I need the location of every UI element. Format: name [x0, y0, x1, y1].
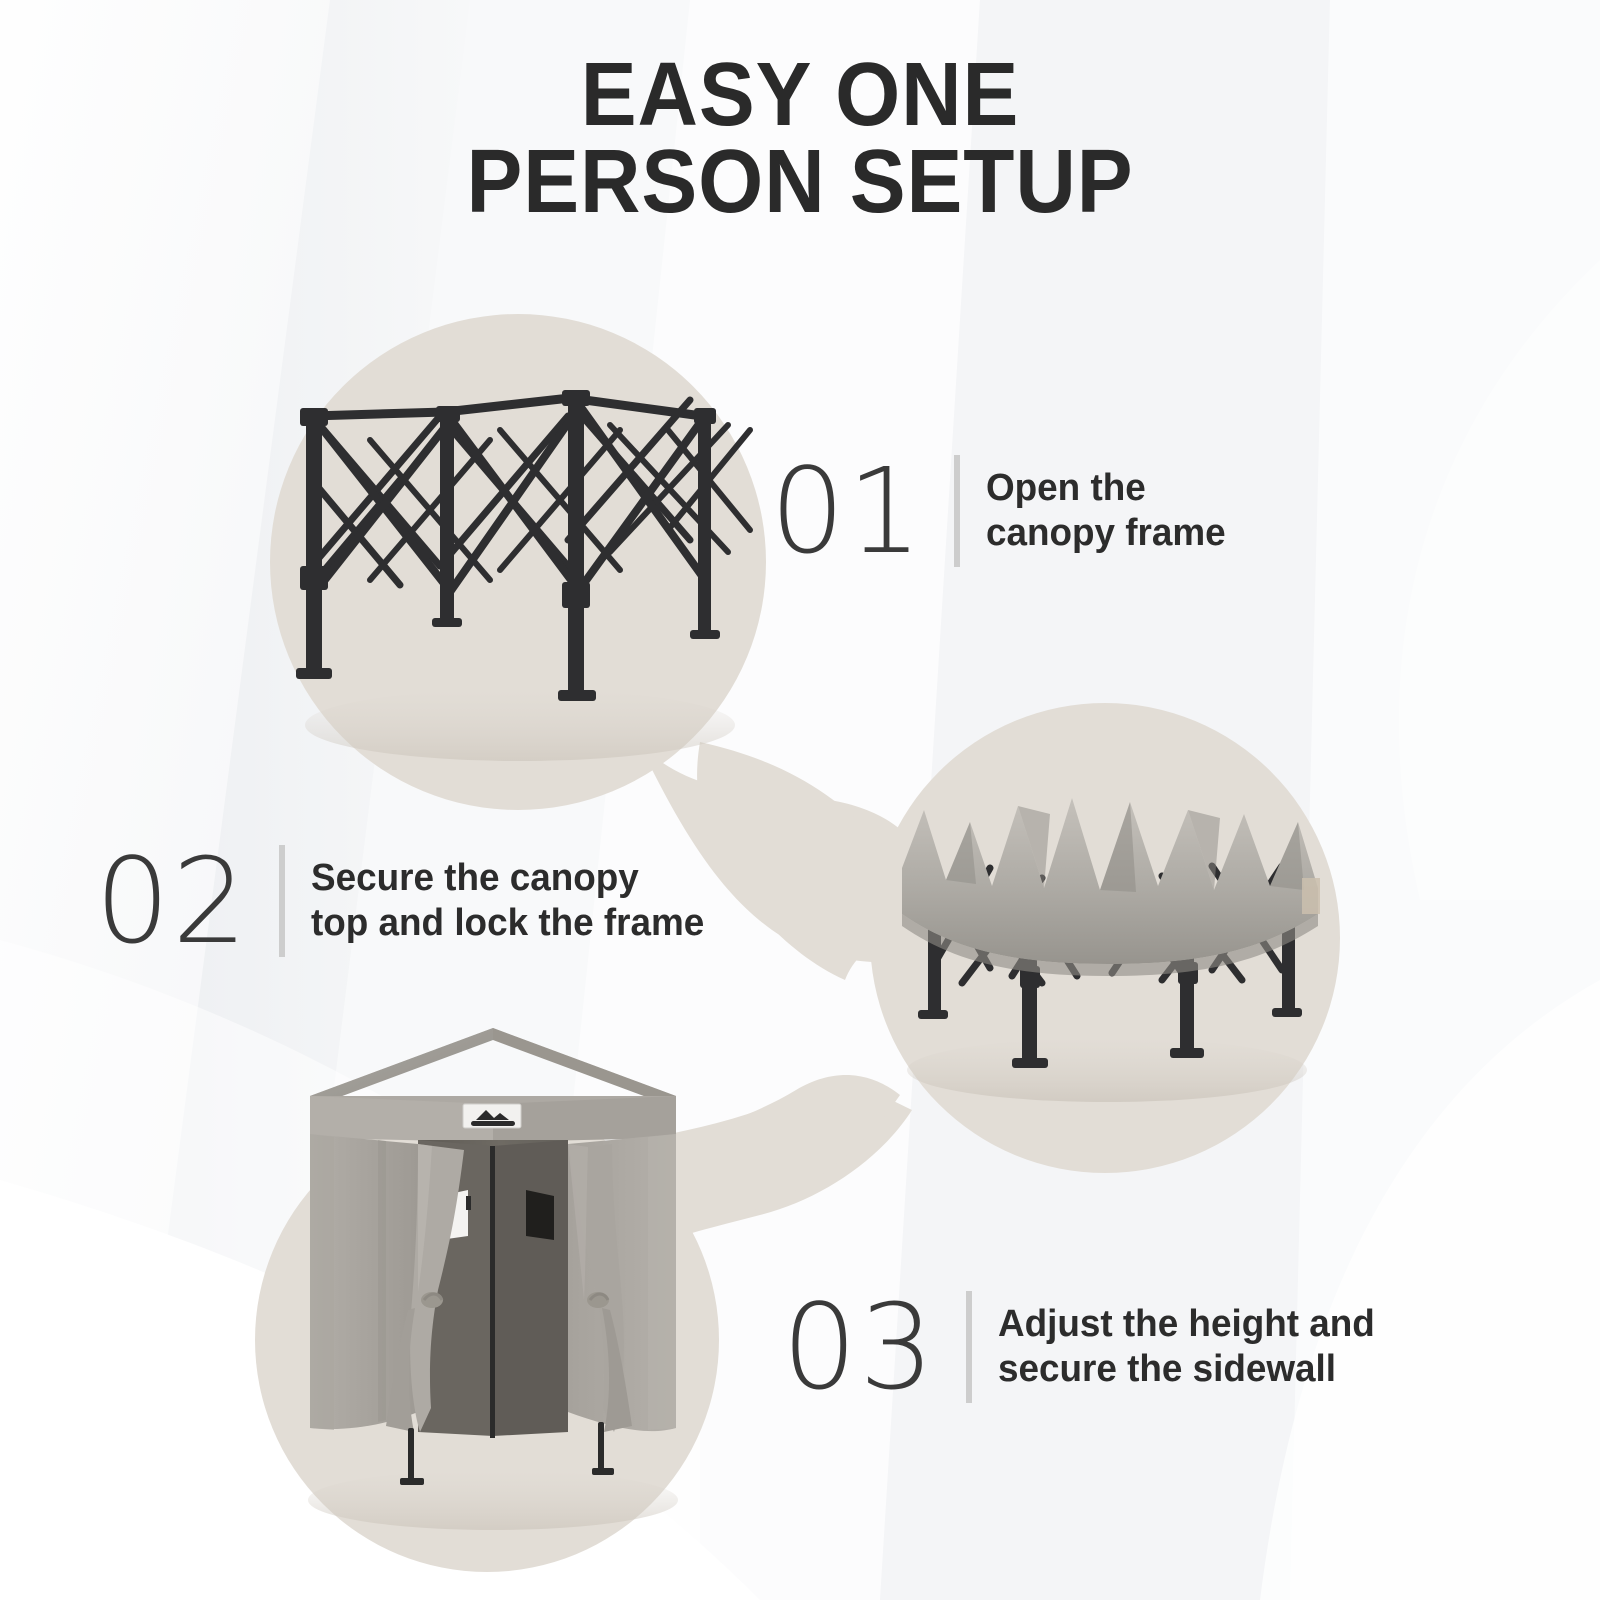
step-2-text: Secure the canopy top and lock the frame [311, 856, 704, 946]
step-1-divider [954, 455, 960, 567]
step-2: 02 Secure the canopy top and lock the fr… [95, 842, 717, 960]
page-title: EASY ONE PERSON SETUP [0, 52, 1600, 227]
step-2-product-image [862, 718, 1352, 1118]
step-1-number: 01 [770, 452, 924, 570]
canopy-corner-strap [1302, 878, 1320, 914]
leg-back-right [698, 414, 711, 636]
step-1: 01 Open the canopy frame [770, 452, 1233, 570]
title-line-2: PERSON SETUP [56, 139, 1544, 226]
step-3: 03 Adjust the height and secure the side… [782, 1288, 1387, 1406]
title-line-1: EASY ONE [56, 52, 1544, 139]
leg-front-left [306, 414, 322, 674]
step-2-number: 02 [95, 842, 249, 960]
step-2-divider [279, 845, 285, 957]
leg-right [598, 1422, 604, 1474]
sidewall-tie-right [587, 1292, 609, 1308]
leg-left [408, 1428, 414, 1484]
step-1-product-image [250, 330, 790, 800]
step-3-divider [966, 1291, 972, 1403]
step-1-text: Open the canopy frame [986, 466, 1226, 556]
brand-label [463, 1104, 521, 1128]
step-3-number: 03 [782, 1288, 936, 1406]
sidewall-tie-left [421, 1292, 443, 1308]
step-3-product-image [268, 1000, 718, 1545]
leg-front-right [568, 396, 584, 696]
window-right [526, 1190, 554, 1240]
interior-corner-pole [490, 1146, 495, 1438]
leg-back-left [440, 412, 454, 624]
step-3-text: Adjust the height and secure the sidewal… [998, 1302, 1375, 1392]
